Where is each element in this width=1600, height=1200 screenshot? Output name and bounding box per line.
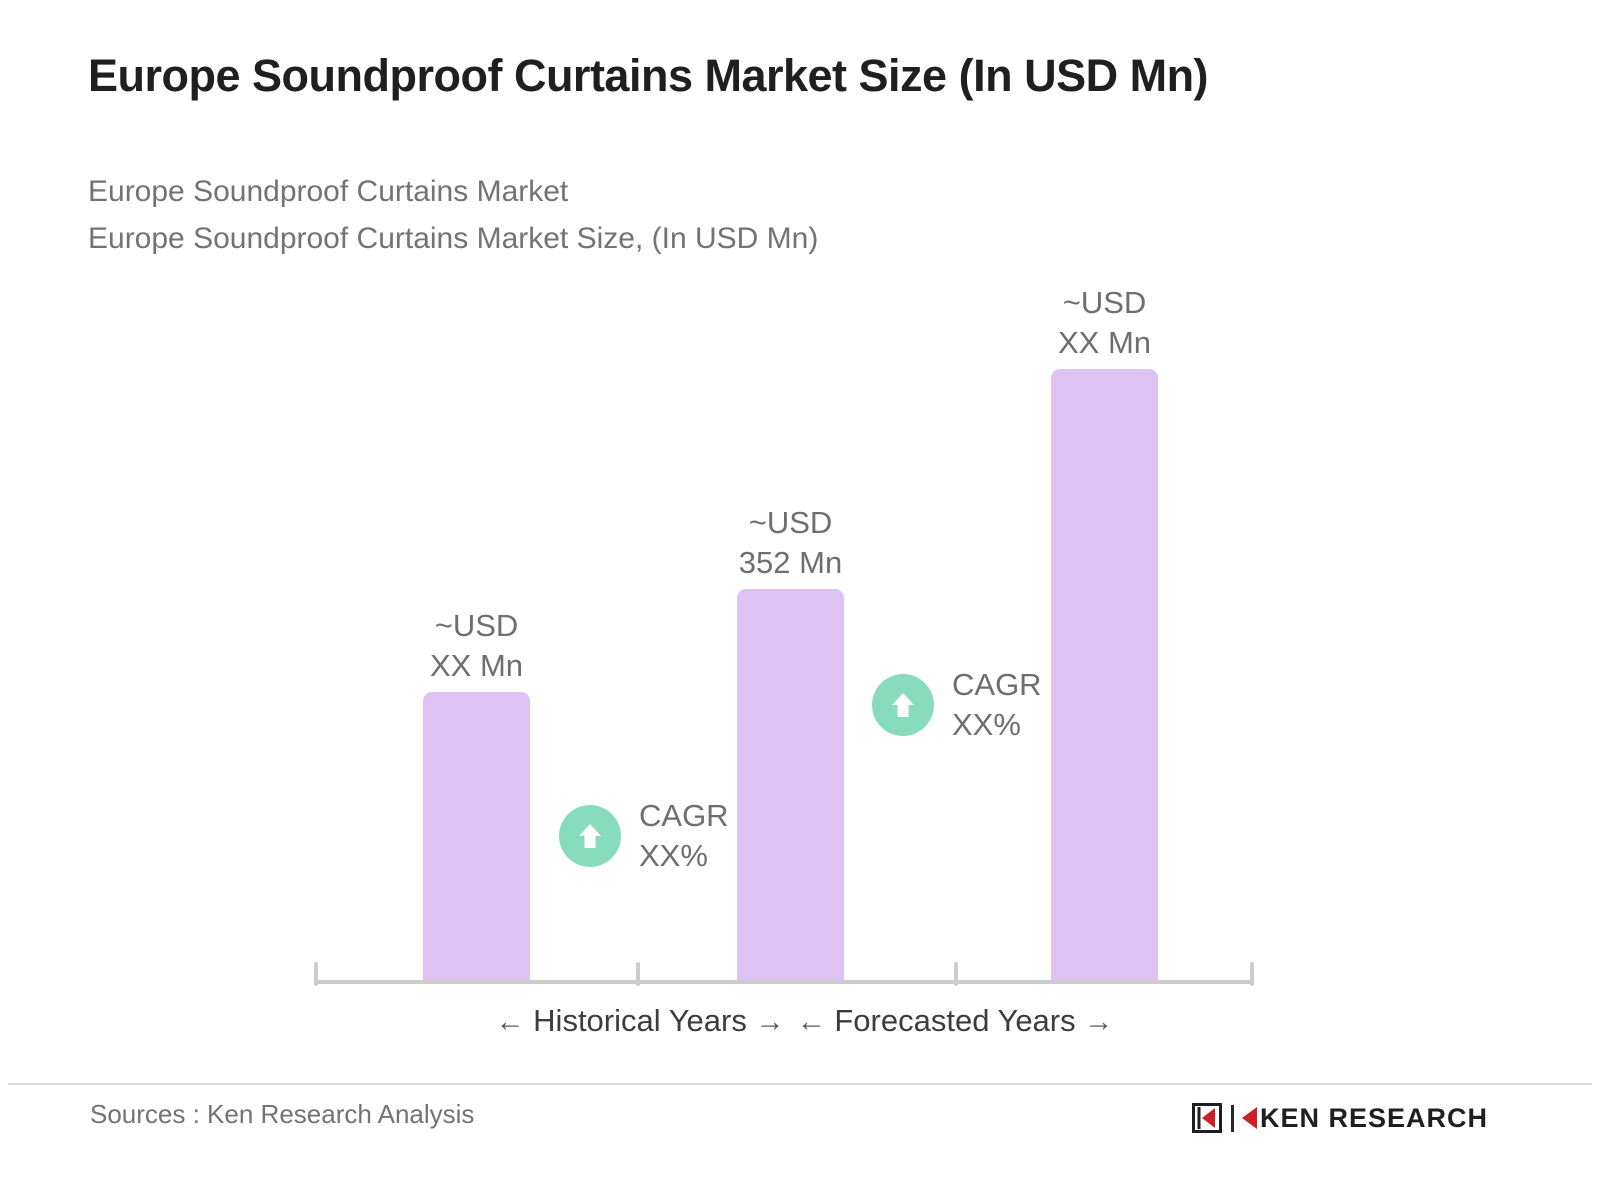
bar-chart-plot-area: ~USD XX Mn ~USD 352 Mn ~USD XX Mn CAGR X… <box>0 0 1600 1200</box>
ken-research-k-mark-icon <box>1192 1103 1222 1133</box>
bar-label-forecasted-year: ~USD XX Mn <box>1014 283 1195 363</box>
x-axis-tick-middle <box>636 962 640 986</box>
axis-caption-text: Historical Years <box>533 1003 747 1038</box>
axis-caption-text: Forecasted Years <box>834 1003 1075 1038</box>
bar-label-line-2: XX Mn <box>386 646 567 686</box>
cagr-annotation-forecast: CAGR XX% <box>872 665 1042 745</box>
x-axis-line <box>314 980 1254 984</box>
cagr-label-historical: CAGR XX% <box>639 796 729 876</box>
axis-caption-historical-years: ← Historical Years → <box>480 1003 800 1039</box>
bar-base-year <box>737 589 844 982</box>
arrow-up-icon <box>872 674 934 736</box>
bar-forecasted-year <box>1051 369 1158 982</box>
bar-label-line-1: ~USD <box>386 606 567 646</box>
arrow-left-icon: ← <box>797 1006 826 1038</box>
bar-label-line-1: ~USD <box>700 503 881 543</box>
cagr-label-line-1: CAGR <box>639 796 729 836</box>
arrow-right-icon: → <box>755 1006 784 1038</box>
axis-caption-forecasted-years: ← Forecasted Years → <box>790 1003 1120 1039</box>
x-axis-tick-start <box>314 962 318 986</box>
cagr-label-line-2: XX% <box>639 836 729 876</box>
cagr-label-line-1: CAGR <box>952 665 1042 705</box>
logo-triangle-icon <box>1242 1107 1257 1129</box>
bar-label-historical-year: ~USD XX Mn <box>386 606 567 686</box>
arrow-right-icon: → <box>1084 1006 1113 1038</box>
cagr-label-line-2: XX% <box>952 705 1042 745</box>
cagr-annotation-historical: CAGR XX% <box>559 796 729 876</box>
bar-label-base-year: ~USD 352 Mn <box>700 503 881 583</box>
bar-label-line-2: XX Mn <box>1014 323 1195 363</box>
bar-label-line-1: ~USD <box>1014 283 1195 323</box>
footer-divider <box>8 1083 1592 1085</box>
arrow-up-icon <box>559 805 621 867</box>
arrow-left-icon: ← <box>496 1006 525 1038</box>
x-axis-tick-split <box>954 962 958 986</box>
cagr-label-forecast: CAGR XX% <box>952 665 1042 745</box>
logo-divider <box>1231 1105 1234 1132</box>
bar-label-line-2: 352 Mn <box>700 543 881 583</box>
bar-historical-year <box>423 692 530 982</box>
ken-research-logo: KEN RESEARCH <box>1192 1101 1488 1135</box>
x-axis-tick-end <box>1250 962 1254 986</box>
source-note: Sources : Ken Research Analysis <box>90 1099 474 1130</box>
logo-wordmark: KEN RESEARCH <box>1260 1105 1488 1132</box>
chart-slide: Europe Soundproof Curtains Market Size (… <box>0 0 1600 1200</box>
